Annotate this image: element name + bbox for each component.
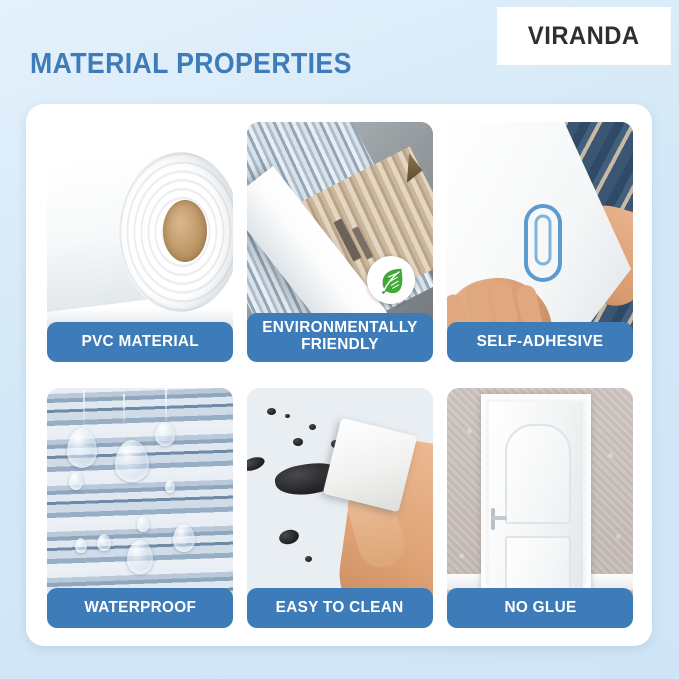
feature-cell-environmentally-friendly[interactable]: ENVIRONMENTALLY FRIENDLY: [247, 122, 433, 362]
water-droplet: [75, 538, 87, 553]
water-droplet: [173, 524, 195, 552]
feature-label-text: NO GLUE: [504, 600, 576, 617]
feature-label-text: SELF-ADHESIVE: [477, 334, 604, 351]
water-droplet: [115, 440, 149, 482]
door-lower-panel: [505, 536, 571, 594]
stain-mark: [285, 414, 290, 418]
brand-name: VIRANDA: [528, 22, 640, 51]
water-droplet: [155, 422, 175, 446]
feature-label-pvc-material: PVC MATERIAL: [47, 322, 233, 362]
feature-label-environmentally-friendly: ENVIRONMENTALLY FRIENDLY: [247, 313, 433, 362]
stain-mark: [305, 556, 312, 562]
water-droplet: [67, 428, 97, 468]
feature-cell-no-glue[interactable]: NO GLUE: [447, 388, 633, 628]
feature-label-waterproof: WATERPROOF: [47, 588, 233, 628]
paperclip-icon: [519, 200, 567, 291]
water-droplet: [69, 472, 83, 490]
page-title: MATERIAL PROPERTIES: [30, 48, 352, 81]
water-droplet: [137, 516, 149, 532]
brand-logo-box: VIRANDA: [498, 8, 670, 64]
feature-label-text: WATERPROOF: [84, 600, 196, 617]
pvc-cardboard-core: [163, 200, 207, 262]
product-feature-infographic: VIRANDA MATERIAL PROPERTIES PVC MATERIAL: [0, 0, 679, 679]
feature-cell-waterproof[interactable]: WATERPROOF: [47, 388, 233, 628]
feature-grid: PVC MATERIAL: [47, 122, 633, 628]
leaf-badge-icon: [367, 256, 415, 304]
feature-label-easy-to-clean: EASY TO CLEAN: [247, 588, 433, 628]
feature-label-no-glue: NO GLUE: [447, 588, 633, 628]
water-droplet: [127, 540, 153, 574]
water-droplet: [165, 480, 175, 493]
feature-cell-easy-to-clean[interactable]: EASY TO CLEAN: [247, 388, 433, 628]
water-droplet: [97, 534, 111, 551]
feature-cell-self-adhesive[interactable]: SELF-ADHESIVE: [447, 122, 633, 362]
stain-mark: [267, 408, 276, 415]
feature-label-text-line1: ENVIRONMENTALLY: [262, 320, 417, 337]
stain-mark: [309, 424, 316, 430]
door-upper-panel: [505, 424, 571, 524]
feature-label-self-adhesive: SELF-ADHESIVE: [447, 322, 633, 362]
feature-label-text: EASY TO CLEAN: [276, 600, 404, 617]
feature-label-text-line2: FRIENDLY: [262, 337, 417, 354]
feature-label-text: PVC MATERIAL: [81, 334, 199, 351]
feature-cell-pvc-material[interactable]: PVC MATERIAL: [47, 122, 233, 362]
door-handle-lever: [491, 516, 507, 520]
stain-mark: [293, 438, 303, 446]
